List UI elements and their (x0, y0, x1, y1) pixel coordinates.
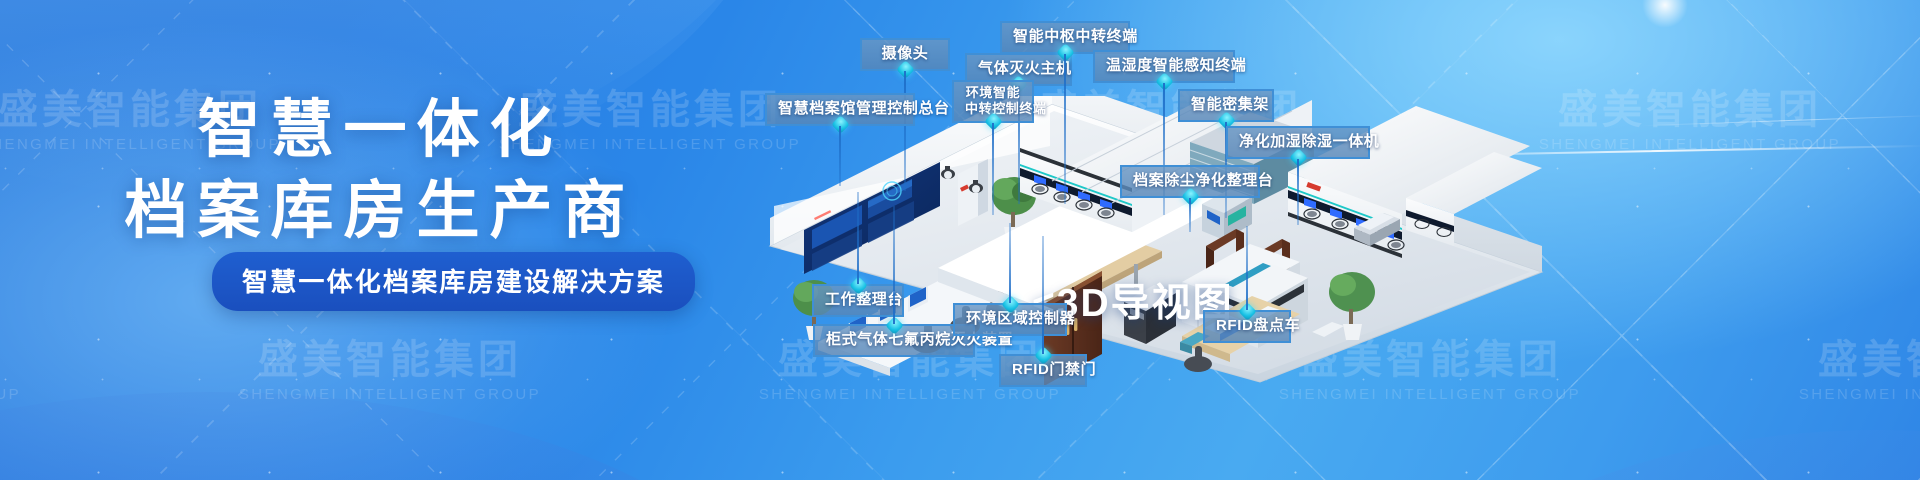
callout-label-work-table: 工作整理台 (812, 284, 904, 317)
connector-line (857, 192, 859, 284)
callout-env-area-controller[interactable]: 环境区域控制器 (953, 303, 1067, 336)
background-arc-bottom-left (0, 392, 800, 480)
watermark: 盛美智能集团SHENGMEI INTELLIGENT GROUP (200, 340, 580, 402)
callout-label-smart-mobile-rack: 智能密集架 (1178, 89, 1274, 122)
watermark: 盛美智能集团SHENGMEI INTELLIGENT GROUP (0, 340, 60, 402)
headline-line-1: 智慧一体化 (0, 95, 760, 167)
callout-camera[interactable]: 摄像头 (860, 38, 950, 71)
callout-label-env-area-controller: 环境区域控制器 (953, 303, 1067, 336)
callout-smart-mobile-rack[interactable]: 智能密集架 (1178, 89, 1274, 122)
callout-work-table[interactable]: 工作整理台 (812, 284, 904, 317)
callout-label-control-console: 智慧档案馆管理控制总台 (765, 93, 915, 126)
connector-line (1009, 223, 1011, 303)
connector-line (893, 206, 895, 324)
callout-label-temp-humidity: 温湿度智能感知终端 (1093, 50, 1235, 83)
callout-purify-humidifier[interactable]: 净化加湿除湿一体机 (1226, 126, 1370, 159)
page-title: 智慧一体化 档案库房生产商 (0, 95, 760, 248)
callout-label-rfid-inventory-cart: RFID盘点车 (1203, 310, 1291, 343)
callout-rfid-inventory-cart[interactable]: RFID盘点车 (1203, 310, 1291, 343)
connector-line (839, 126, 841, 186)
callout-cabinet-gas-fm200[interactable]: 柜式气体七氟丙烷灭火装置 (813, 324, 975, 357)
callout-label-rfid-access-door: RFID门禁门 (999, 354, 1087, 387)
callout-label-purify-humidifier: 净化加湿除湿一体机 (1226, 126, 1370, 159)
headline-line-2: 档案库房生产商 (0, 176, 760, 248)
connector-line (992, 123, 994, 215)
connector-line (1064, 54, 1066, 204)
watermark: 盛美智能集团SHENGMEI INTELLIGENT GROUP (1500, 90, 1880, 152)
background-glow-dot (1642, 0, 1688, 28)
connector-line (904, 71, 906, 191)
callout-control-console[interactable]: 智慧档案馆管理控制总台 (765, 93, 915, 126)
background-arc-bottom-right (1430, 430, 1920, 480)
connector-line (1042, 236, 1044, 354)
callout-label-env-relay-terminal: 环境智能中转控制终端 (952, 80, 1034, 123)
connector-line (1189, 198, 1191, 232)
callout-temp-humidity[interactable]: 温湿度智能感知终端 (1093, 50, 1235, 83)
callout-dust-clean-table[interactable]: 档案除尘净化整理台 (1120, 165, 1260, 198)
callout-label-camera: 摄像头 (860, 38, 950, 71)
callout-rfid-access-door[interactable]: RFID门禁门 (999, 354, 1087, 387)
watermark: 盛美智能集团SHENGMEI INTELLIGENT GROUP (1760, 340, 1920, 402)
subtitle-pill: 智慧一体化档案库房建设解决方案 (212, 252, 695, 311)
callout-label-dust-clean-table: 档案除尘净化整理台 (1120, 165, 1260, 198)
callout-env-relay-terminal[interactable]: 环境智能中转控制终端 (952, 80, 1034, 123)
connector-line (1246, 226, 1248, 310)
background-light-streak-secondary (1640, 115, 1920, 126)
callout-label-cabinet-gas-fm200: 柜式气体七氟丙烷灭火装置 (813, 324, 975, 357)
promo-banner: 盛美智能集团SHENGMEI INTELLIGENT GROUP盛美智能集团SH… (0, 0, 1920, 480)
connector-line (1297, 159, 1299, 225)
